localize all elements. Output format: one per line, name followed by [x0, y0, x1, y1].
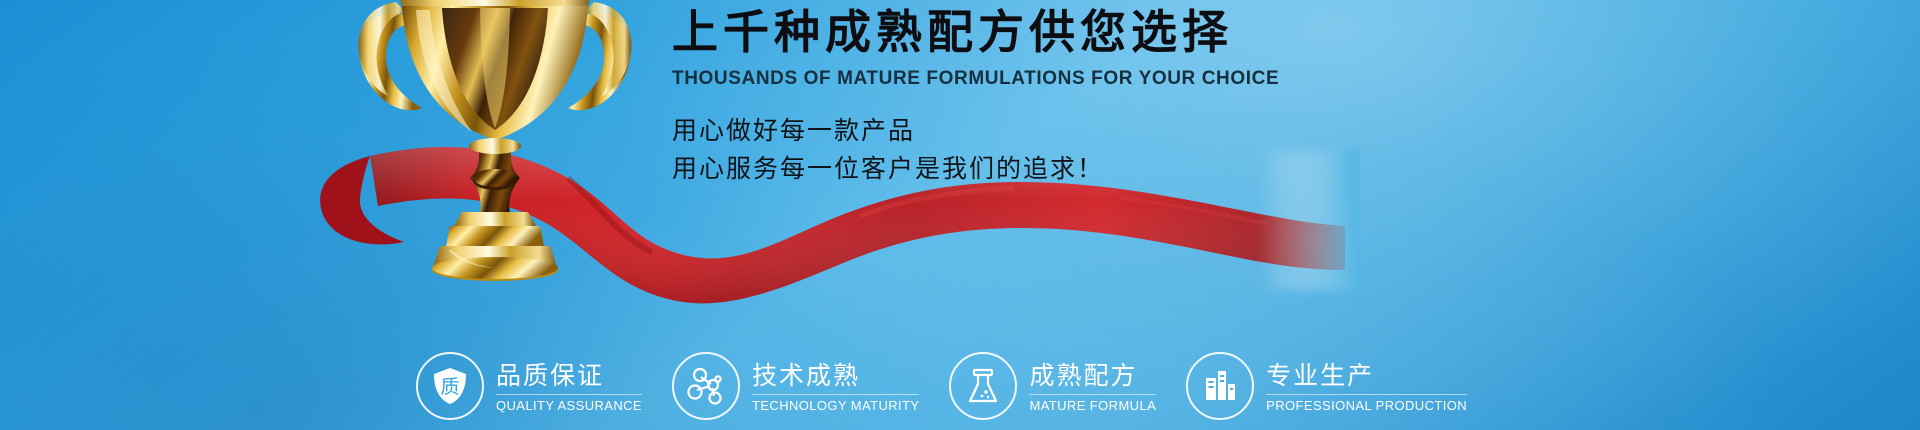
banner-copy: 上千种成熟配方供您选择 THOUSANDS OF MATURE FORMULAT…: [672, 4, 1372, 188]
divider: [496, 394, 642, 395]
divider: [1266, 394, 1467, 395]
feature-label-en: PROFESSIONAL PRODUCTION: [1266, 398, 1467, 414]
feature-label-cn: 技术成熟: [752, 361, 919, 391]
feature-label-en: TECHNOLOGY MATURITY: [752, 398, 919, 414]
page-title: 上千种成熟配方供您选择: [672, 4, 1372, 60]
feature-label-cn: 专业生产: [1266, 361, 1467, 391]
subtitle-english: THOUSANDS OF MATURE FORMULATIONS FOR YOU…: [672, 68, 1372, 90]
shield-quality-icon: 质: [416, 352, 484, 420]
tagline-group: 用心做好每一款产品 用心服务每一位客户是我们的追求！: [672, 112, 1372, 188]
feature-mature-formula[interactable]: 成熟配方 MATURE FORMULA: [949, 352, 1156, 420]
molecule-icon: [672, 352, 740, 420]
feature-label-cn: 成熟配方: [1029, 361, 1156, 391]
feature-text: 成熟配方 MATURE FORMULA: [1029, 359, 1156, 414]
feature-label-en: QUALITY ASSURANCE: [496, 398, 642, 414]
feature-technology-maturity[interactable]: 技术成熟 TECHNOLOGY MATURITY: [672, 352, 919, 420]
feature-badge-list: 质 品质保证 QUALITY ASSURANCE: [416, 352, 1467, 420]
feature-text: 技术成熟 TECHNOLOGY MATURITY: [752, 359, 919, 414]
feature-label-cn: 品质保证: [496, 361, 642, 391]
feature-text: 专业生产 PROFESSIONAL PRODUCTION: [1266, 359, 1467, 414]
divider: [752, 394, 919, 395]
divider: [1029, 394, 1156, 395]
flask-icon: [949, 352, 1017, 420]
gold-trophy-graphic: [330, 0, 660, 292]
feature-label-en: MATURE FORMULA: [1029, 398, 1156, 414]
tagline-line-1: 用心做好每一款产品: [672, 112, 1372, 150]
shield-glyph: 质: [440, 376, 459, 398]
promo-banner: 上千种成熟配方供您选择 THOUSANDS OF MATURE FORMULAT…: [0, 0, 1920, 430]
feature-text: 品质保证 QUALITY ASSURANCE: [496, 359, 642, 414]
feature-quality-assurance[interactable]: 质 品质保证 QUALITY ASSURANCE: [416, 352, 642, 420]
feature-professional-production[interactable]: 专业生产 PROFESSIONAL PRODUCTION: [1186, 352, 1467, 420]
tagline-line-2: 用心服务每一位客户是我们的追求！: [672, 150, 1372, 188]
factory-building-icon: [1186, 352, 1254, 420]
